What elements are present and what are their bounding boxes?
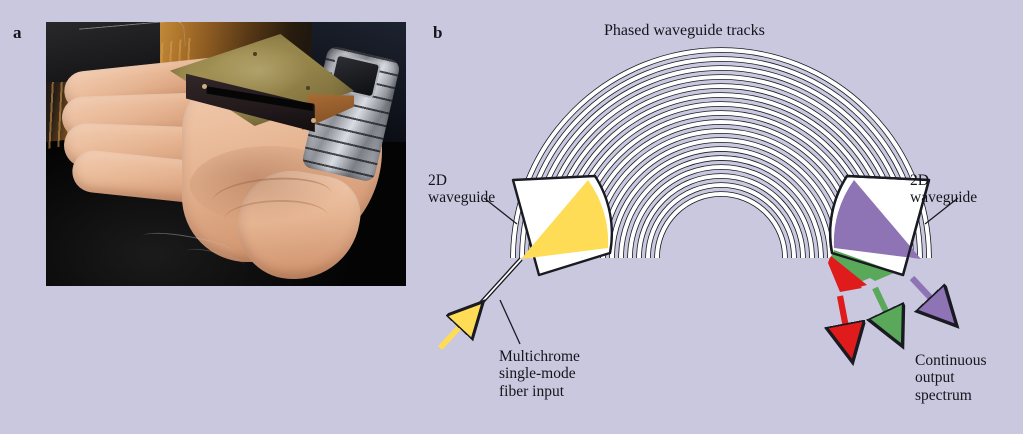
photo-chip-pin-right [311,118,316,123]
photo-chip-screw [253,52,257,56]
photo-chip-screw-secondary [306,86,310,90]
label-output-spectrum: Continuous output spectrum [915,352,986,404]
panel-label-a: a [13,24,22,41]
output-arrow-violet [912,278,940,308]
label-fiber-input: Multichrome single-mode fiber input [499,348,580,400]
left-star-coupler [513,176,612,275]
output-arrow-green [875,288,892,324]
tracks-title: Phased waveguide tracks [604,22,765,40]
fiber-input-arrow [440,318,468,348]
output-arrow-red [840,296,848,338]
label-2d-waveguide-left: 2D waveguide [428,172,495,207]
label-2d-waveguide-right: 2D waveguide [910,172,977,207]
leader-fiber-input [500,300,520,344]
photo-awg-chip [170,34,354,142]
photo-chip-pin-left [202,84,207,89]
figure-root: a [0,0,1023,434]
panel-b-schematic: Phased waveguide tracks 2D waveguide 2D … [420,0,1023,434]
panel-a-photograph [46,22,406,286]
input-fiber-waveguide [472,259,521,313]
